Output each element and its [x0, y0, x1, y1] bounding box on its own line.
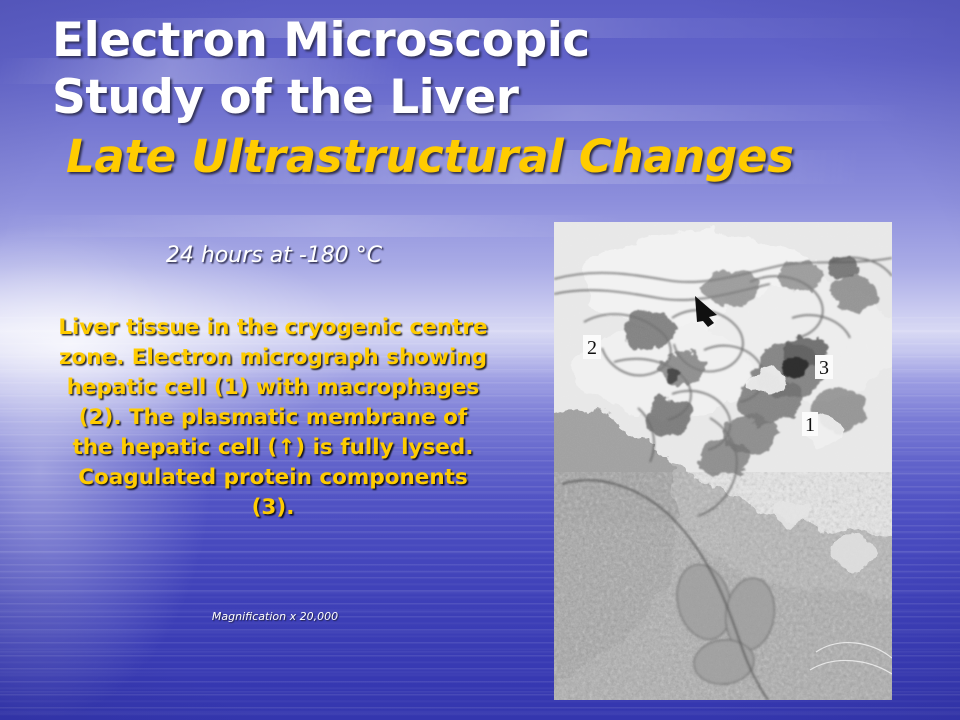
title-block: Electron Microscopic Study of the Liver … [52, 12, 912, 186]
page-subtitle: Late Ultrastructural Changes [52, 128, 912, 186]
slide-canvas: Electron Microscopic Study of the Liver … [0, 0, 960, 720]
electron-micrograph-image: 2 3 1 [554, 222, 892, 700]
svg-text:3: 3 [819, 357, 829, 379]
micrograph-label-3: 3 [815, 355, 833, 379]
svg-text:2: 2 [587, 337, 597, 359]
magnification-label: Magnification x 20,000 [60, 610, 490, 623]
micrograph-label-1: 1 [802, 412, 818, 436]
page-title-line-2: Study of the Liver [52, 69, 912, 126]
svg-text:1: 1 [805, 414, 815, 436]
micrograph-label-2: 2 [583, 335, 601, 359]
page-title-line-1: Electron Microscopic [52, 12, 912, 69]
condition-label: 24 hours at -180 °C [64, 243, 484, 268]
body-paragraph: Liver tissue in the cryogenic centre zon… [58, 313, 488, 523]
